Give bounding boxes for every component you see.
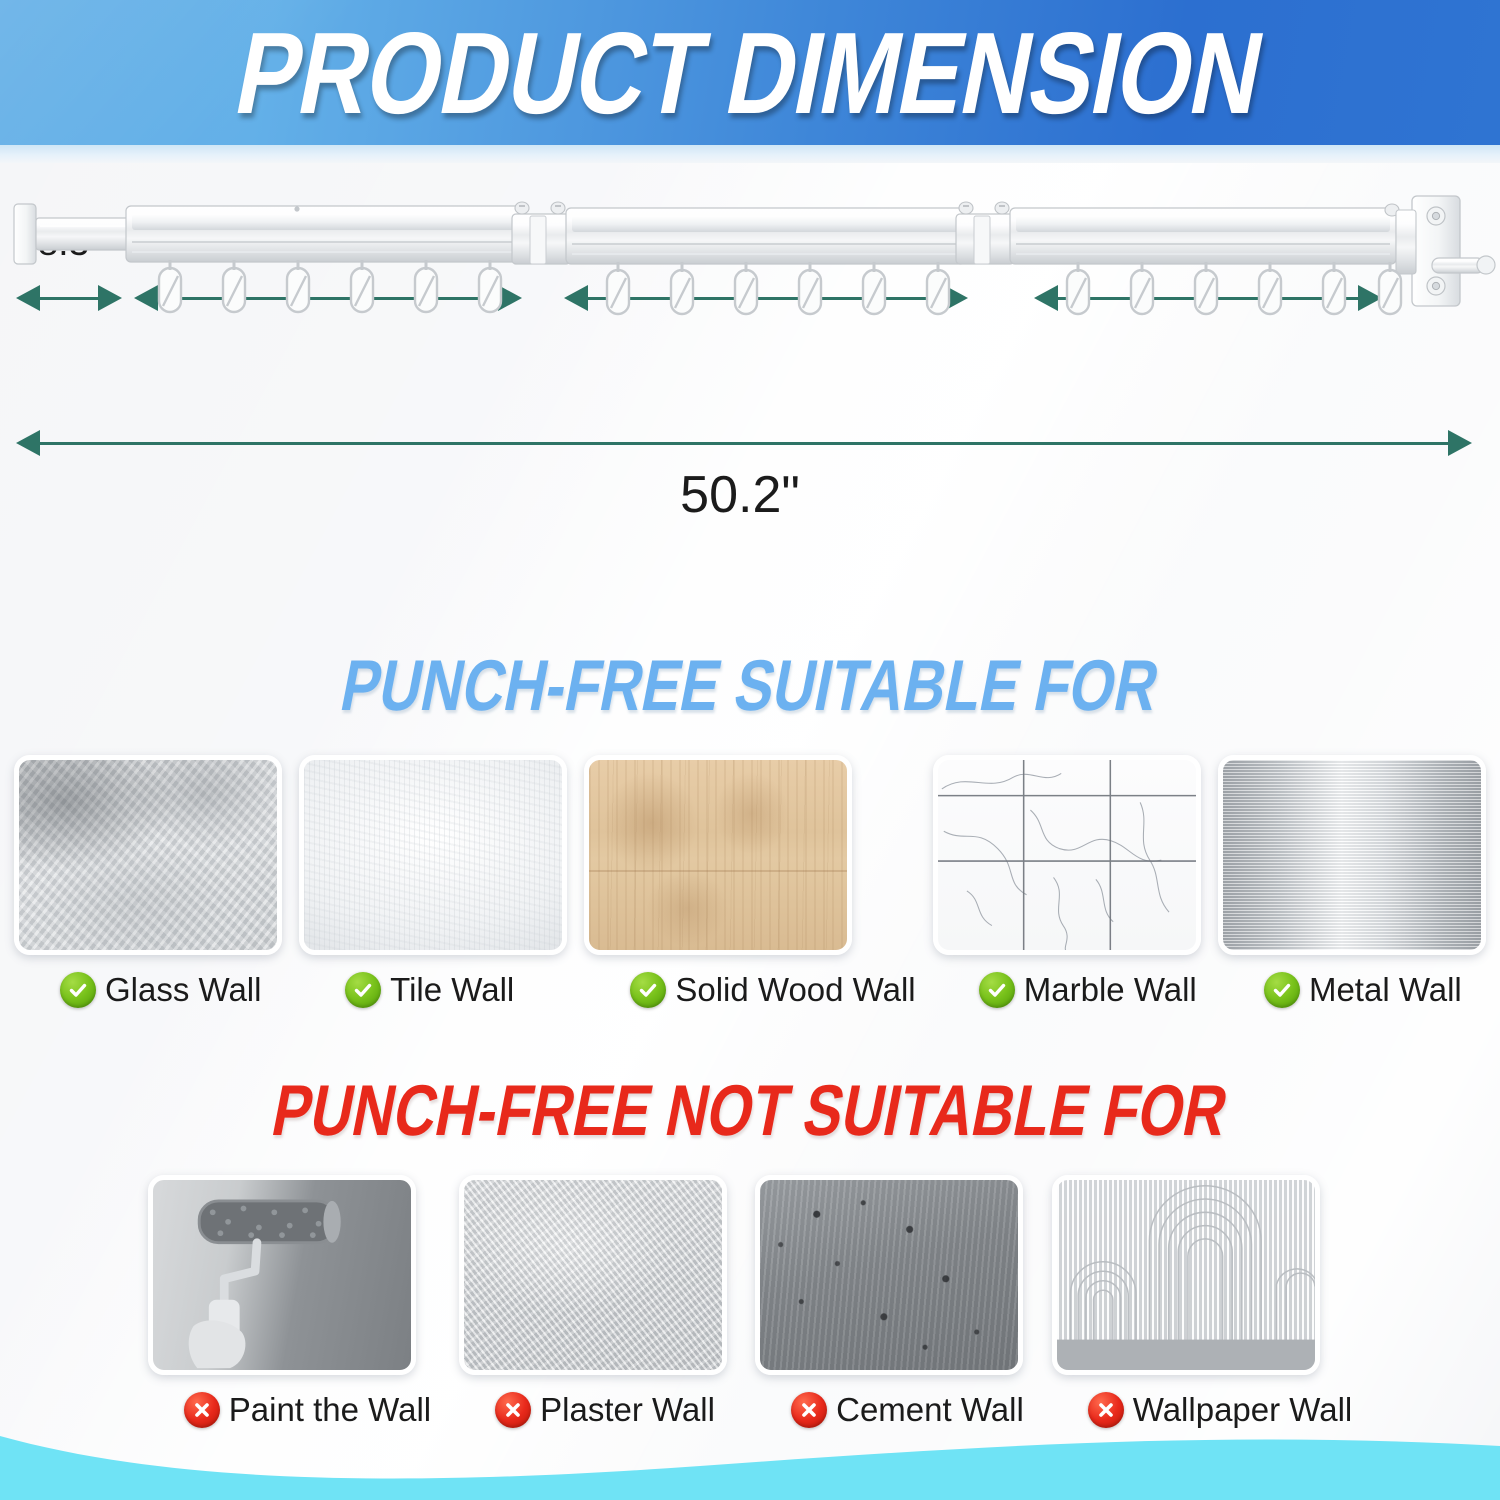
check-icon	[630, 972, 666, 1008]
rail-section-1	[126, 206, 522, 262]
material-card-marble[interactable]: Marble Wall	[933, 755, 1201, 1009]
right-wall-bracket	[1396, 196, 1495, 306]
check-icon	[979, 972, 1015, 1008]
metal-wall-caption: Metal Wall	[1218, 971, 1462, 1009]
total-dimension-label: 50.2"	[680, 465, 800, 525]
material-card-tile[interactable]: Tile Wall	[299, 755, 567, 1009]
cement-wall-swatch	[755, 1175, 1023, 1375]
check-icon	[1264, 972, 1300, 1008]
marble-wall-swatch	[933, 755, 1201, 955]
glider-group	[159, 260, 1401, 314]
header-banner: PRODUCT DIMENSION	[0, 0, 1500, 145]
material-label: Metal Wall	[1309, 971, 1462, 1009]
total-dimension-arrow	[16, 430, 1472, 456]
rail-section-2	[566, 208, 966, 264]
solid-wood-wall-caption: Solid Wood Wall	[584, 971, 915, 1009]
glass-wall-caption: Glass Wall	[14, 971, 261, 1009]
material-card-wood[interactable]: Solid Wood Wall	[584, 755, 915, 1009]
suitable-materials-row: Glass Wall Tile Wall Solid Wood Wall	[0, 755, 1500, 1009]
page-title: PRODUCT DIMENSION	[116, 15, 1385, 131]
material-label: Glass Wall	[105, 971, 261, 1009]
footer-wave	[0, 1390, 1500, 1500]
material-label: Marble Wall	[1024, 971, 1197, 1009]
arrow-shaft	[29, 442, 1459, 445]
suitable-heading: PUNCH-FREE SUITABLE FOR	[234, 650, 1267, 722]
dimension-diagram: 8.3" 12" 12" 12"	[0, 180, 1500, 560]
plaster-wall-swatch	[459, 1175, 727, 1375]
left-wall-plate	[14, 204, 132, 264]
metal-wall-swatch	[1218, 755, 1486, 955]
tile-wall-caption: Tile Wall	[299, 971, 514, 1009]
wallpaper-arch-pattern	[1057, 1180, 1315, 1370]
page-title-text: PRODUCT DIMENSION	[228, 15, 1272, 131]
suitable-heading-text: PUNCH-FREE SUITABLE FOR	[336, 650, 1165, 722]
marble-wall-caption: Marble Wall	[933, 971, 1197, 1009]
curtain-track-illustration	[0, 180, 1500, 420]
paint-wall-swatch	[148, 1175, 416, 1375]
unsuitable-heading: PUNCH-FREE NOT SUITABLE FOR	[148, 1075, 1353, 1147]
track-connector-1	[512, 202, 570, 264]
check-icon	[60, 972, 96, 1008]
marble-veins	[938, 760, 1196, 953]
material-label: Solid Wood Wall	[675, 971, 915, 1009]
solid-wood-wall-swatch	[584, 755, 852, 955]
material-card-glass[interactable]: Glass Wall	[14, 755, 282, 1009]
unsuitable-heading-text: PUNCH-FREE NOT SUITABLE FOR	[267, 1075, 1234, 1147]
header-underline	[0, 145, 1500, 163]
rail-section-3	[1010, 204, 1399, 264]
material-card-metal[interactable]: Metal Wall	[1218, 755, 1486, 1009]
check-icon	[345, 972, 381, 1008]
glass-wall-swatch	[14, 755, 282, 955]
arrow-head-right	[1448, 430, 1472, 456]
track-connector-2	[956, 202, 1014, 264]
wallpaper-wall-swatch	[1052, 1175, 1320, 1375]
paint-roller-icon	[153, 1180, 411, 1370]
tile-wall-swatch	[299, 755, 567, 955]
material-label: Tile Wall	[390, 971, 514, 1009]
